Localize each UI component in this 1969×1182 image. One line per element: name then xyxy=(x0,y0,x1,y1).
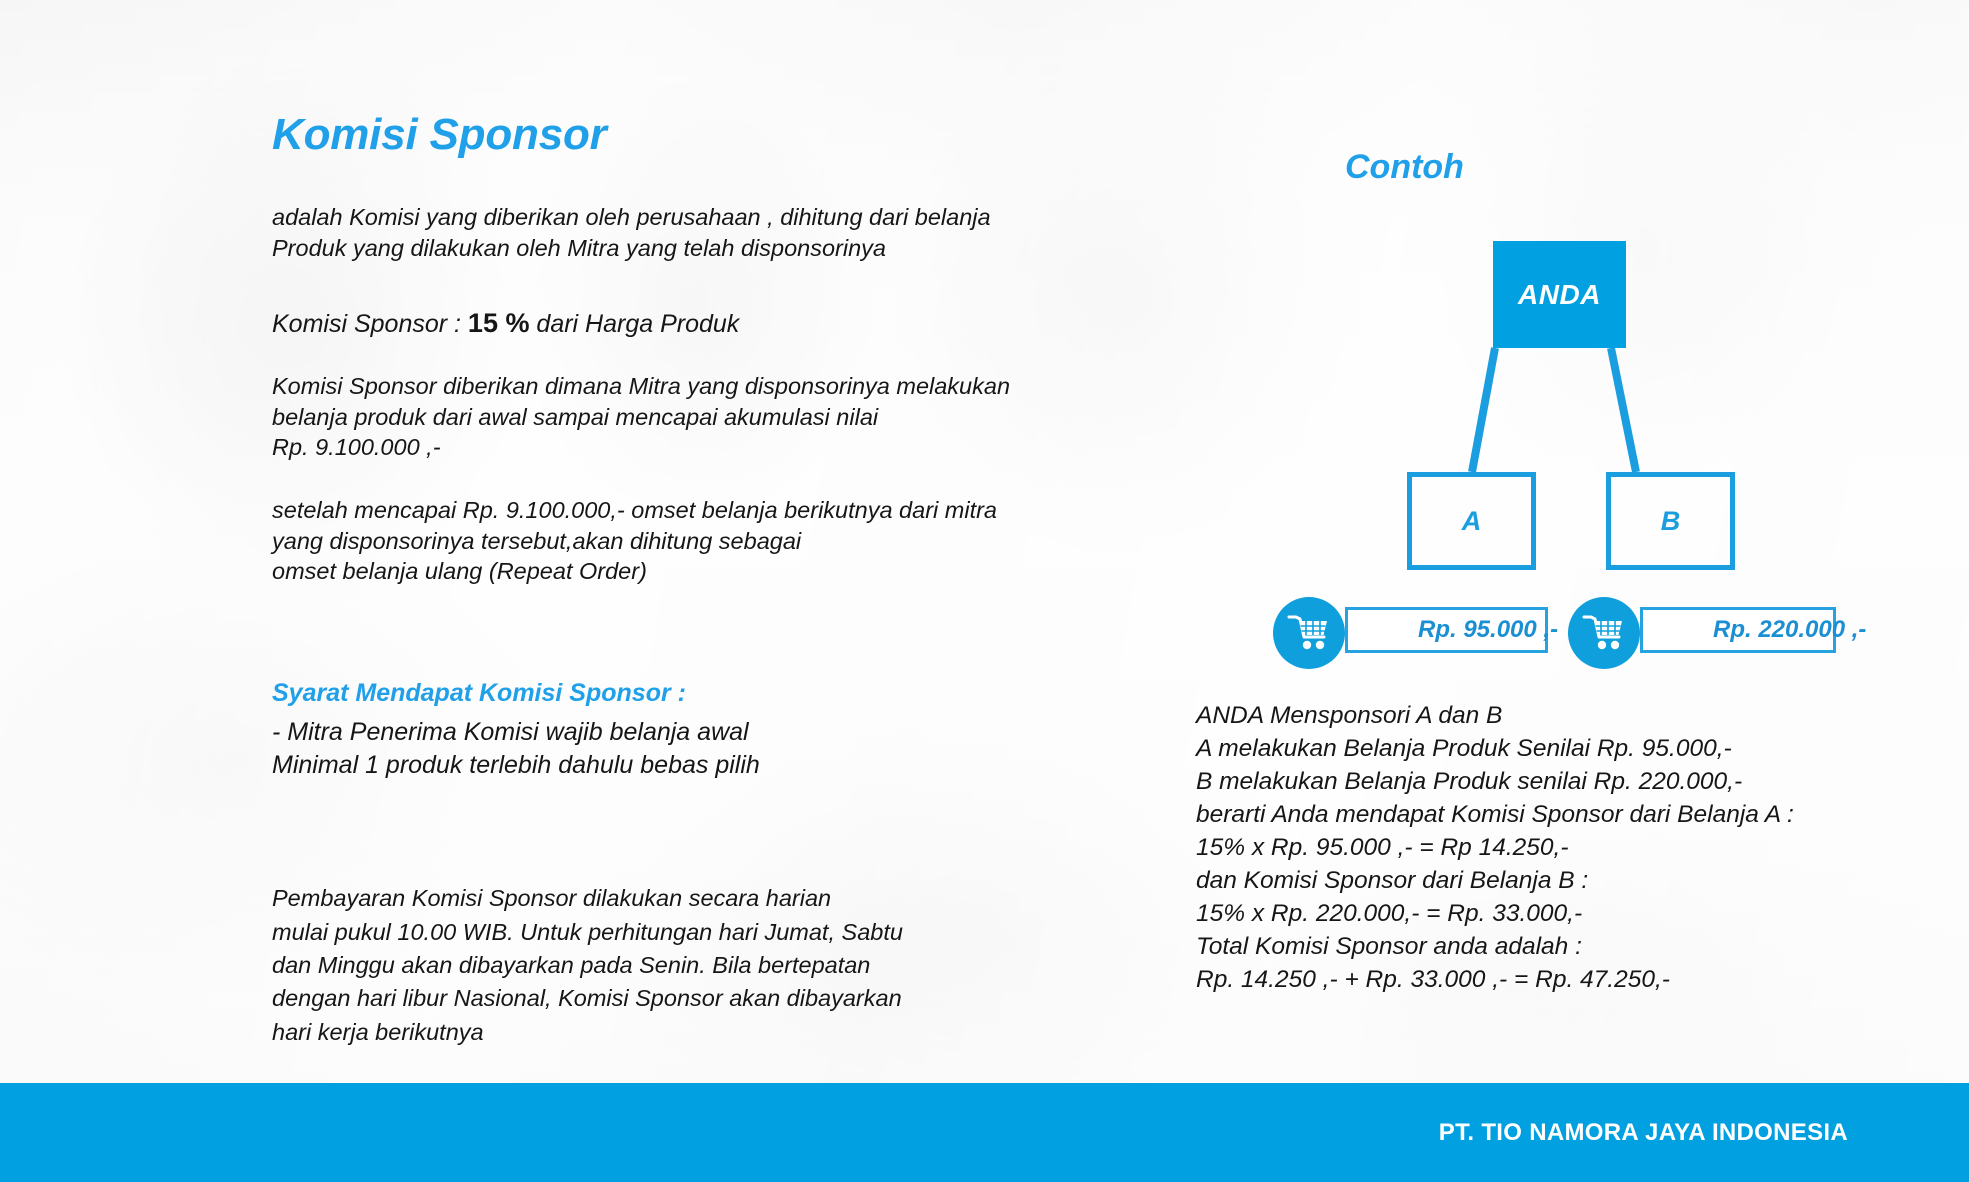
node-b: B xyxy=(1606,472,1735,570)
repeat-order-paragraph: setelah mencapai Rp. 9.100.000,- omset b… xyxy=(272,495,1092,587)
slide-root: Komisi Sponsor adalah Komisi yang diberi… xyxy=(0,0,1969,1182)
footer-bar: PT. TIO NAMORA JAYA INDONESIA xyxy=(0,1083,1969,1182)
payment-schedule-paragraph: Pembayaran Komisi Sponsor dilakukan seca… xyxy=(272,882,1092,1049)
requirements-heading: Syarat Mendapat Komisi Sponsor : xyxy=(272,679,1092,708)
price-box-a: Rp. 95.000 ,- xyxy=(1345,607,1548,653)
commission-rate-prefix: Komisi Sponsor : xyxy=(272,310,468,338)
connector-line-to-a xyxy=(1472,348,1495,472)
company-name: PT. TIO NAMORA JAYA INDONESIA xyxy=(1439,1083,1848,1182)
node-a-label: A xyxy=(1462,506,1482,537)
price-badge-b: Rp. 220.000 ,- xyxy=(1568,604,1836,662)
shopping-cart-glyph xyxy=(1287,613,1331,653)
commission-rate-suffix: dari Harga Produk xyxy=(529,310,739,338)
node-a: A xyxy=(1407,472,1536,570)
price-box-b: Rp. 220.000 ,- xyxy=(1640,607,1836,653)
commission-rate-line: Komisi Sponsor : 15 % dari Harga Produk xyxy=(272,306,1092,341)
shopping-cart-glyph xyxy=(1582,613,1626,653)
intro-paragraph: adalah Komisi yang diberikan oleh perusa… xyxy=(272,202,1092,263)
page-title: Komisi Sponsor xyxy=(272,112,1092,158)
connector-line-to-b xyxy=(1611,348,1636,472)
example-explanation: ANDA Mensponsori A dan B A melakukan Bel… xyxy=(1196,700,1956,996)
commission-rate-value: 15 % xyxy=(468,308,530,338)
price-label-b: Rp. 220.000 ,- xyxy=(1713,616,1866,644)
price-badge-a: Rp. 95.000 ,- xyxy=(1273,604,1548,662)
price-label-a: Rp. 95.000 ,- xyxy=(1418,616,1558,644)
shopping-cart-icon xyxy=(1273,597,1345,669)
accumulation-paragraph: Komisi Sponsor diberikan dimana Mitra ya… xyxy=(272,371,1092,463)
requirements-body: - Mitra Penerima Komisi wajib belanja aw… xyxy=(272,716,1092,783)
node-anda: ANDA xyxy=(1493,241,1626,348)
node-b-label: B xyxy=(1661,506,1681,537)
shopping-cart-icon xyxy=(1568,597,1640,669)
node-anda-label: ANDA xyxy=(1518,279,1601,311)
left-content-column: Komisi Sponsor adalah Komisi yang diberi… xyxy=(272,112,1092,1049)
